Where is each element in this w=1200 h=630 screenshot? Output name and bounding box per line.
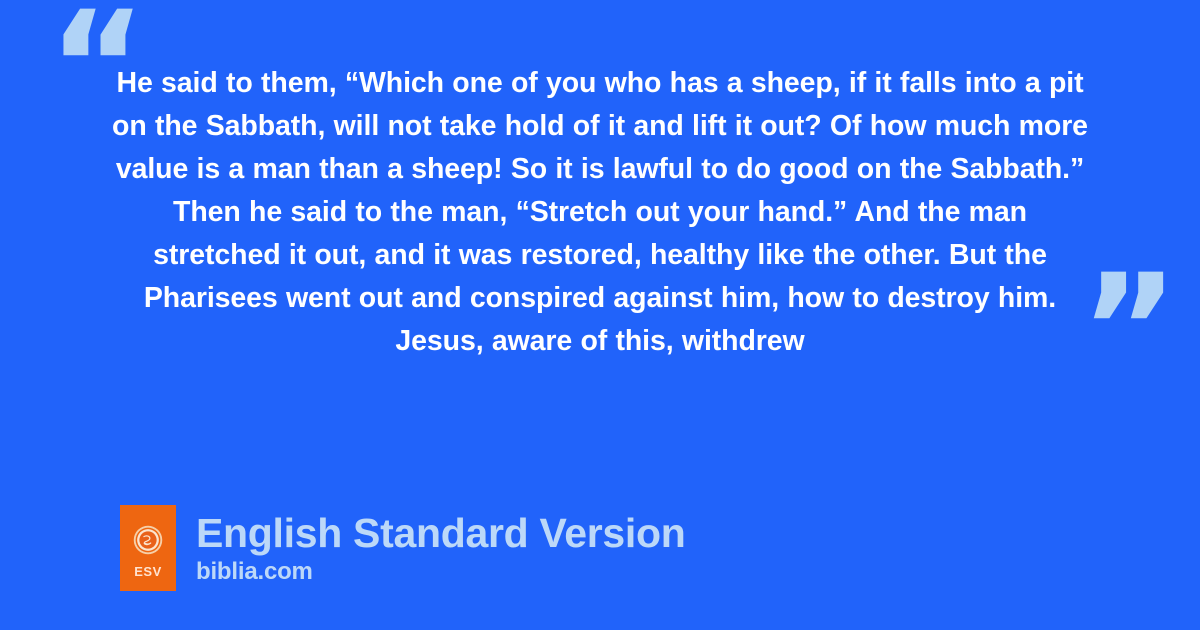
bible-version-title: English Standard Version [196,510,685,556]
esv-abbreviation-label: ESV [134,565,162,578]
site-url-label: biblia.com [196,558,685,586]
quote-poster: “ ” He said to them, “Which one of you w… [0,0,1200,630]
brand-footer: ESV English Standard Version biblia.com [120,505,685,591]
closing-quote-icon: ” [1080,255,1177,405]
brand-text-group: English Standard Version biblia.com [196,510,685,586]
esv-seal-emblem-icon [133,525,163,555]
esv-logo-badge: ESV [120,505,176,591]
quote-block: He said to them, “Which one of you who h… [112,62,1088,363]
quote-text: He said to them, “Which one of you who h… [112,62,1088,363]
